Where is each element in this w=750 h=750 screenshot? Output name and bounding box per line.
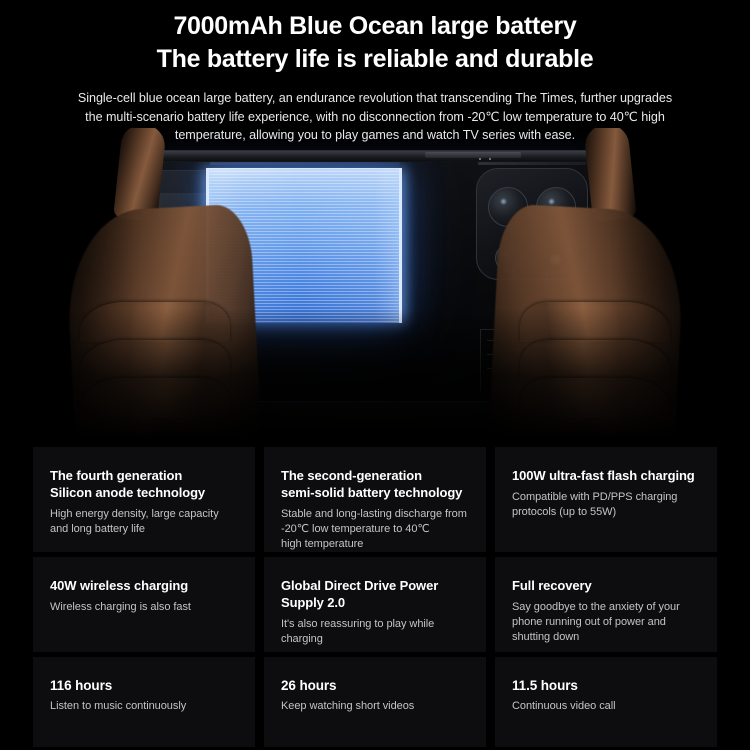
- feature-card-description: Continuous video call: [512, 699, 700, 714]
- feature-card-description: High energy density, large capacity and …: [50, 507, 238, 537]
- feature-card-semi-solid-battery[interactable]: The second-generation semi-solid battery…: [264, 447, 486, 552]
- feature-card-description: Wireless charging is also fast: [50, 600, 238, 615]
- feature-card-short-videos[interactable]: 26 hours Keep watching short videos: [264, 657, 486, 747]
- feature-card-music-playback[interactable]: 116 hours Listen to music continuously: [33, 657, 255, 747]
- feature-card-title: Global Direct Drive Power Supply 2.0: [281, 577, 469, 611]
- feature-card-direct-drive-power[interactable]: Global Direct Drive Power Supply 2.0 It'…: [264, 557, 486, 652]
- feature-card-title: 11.5 hours: [512, 677, 700, 694]
- feature-card-title: The second-generation semi-solid battery…: [281, 467, 469, 501]
- photo-bottom-fade: [0, 308, 750, 438]
- page-title-line-2: The battery life is reliable and durable: [0, 43, 750, 75]
- page-subtitle: Single-cell blue ocean large battery, an…: [75, 89, 675, 145]
- page-title-line-1: 7000mAh Blue Ocean large battery: [0, 10, 750, 42]
- feature-card-title: 26 hours: [281, 677, 469, 694]
- feature-card-title: 40W wireless charging: [50, 577, 238, 594]
- feature-card-description: It's also reassuring to play while charg…: [281, 617, 469, 647]
- feature-card-title: 100W ultra-fast flash charging: [512, 467, 700, 484]
- hero-image: [0, 128, 750, 438]
- feature-card-description: Listen to music continuously: [50, 699, 238, 714]
- feature-card-wireless-charging[interactable]: 40W wireless charging Wireless charging …: [33, 557, 255, 652]
- feature-card-title: The fourth generation Silicon anode tech…: [50, 467, 238, 501]
- feature-card-description: Keep watching short videos: [281, 699, 469, 714]
- feature-card-description: Compatible with PD/PPS charging protocol…: [512, 490, 700, 520]
- feature-card-description: Say goodbye to the anxiety of your phone…: [512, 600, 700, 645]
- feature-card-title: Full recovery: [512, 577, 700, 594]
- feature-card-video-call[interactable]: 11.5 hours Continuous video call: [495, 657, 717, 747]
- feature-card-full-recovery[interactable]: Full recovery Say goodbye to the anxiety…: [495, 557, 717, 652]
- feature-card-grid: The fourth generation Silicon anode tech…: [33, 447, 717, 747]
- page-header: 7000mAh Blue Ocean large battery The bat…: [0, 0, 750, 140]
- feature-card-description: Stable and long-lasting discharge from -…: [281, 507, 469, 552]
- feature-card-title: 116 hours: [50, 677, 238, 694]
- feature-card-flash-charging[interactable]: 100W ultra-fast flash charging Compatibl…: [495, 447, 717, 552]
- feature-card-silicon-anode[interactable]: The fourth generation Silicon anode tech…: [33, 447, 255, 552]
